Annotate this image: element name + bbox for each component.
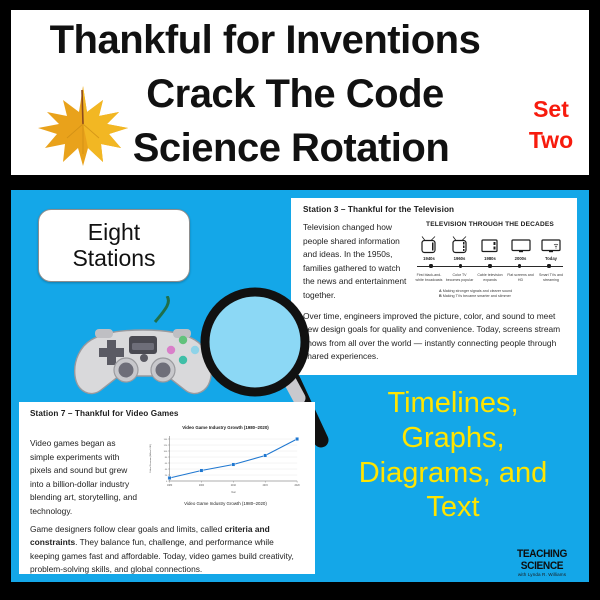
crt-tv-antenna-icon xyxy=(418,236,440,254)
station-7-card: Station 7 – Thankful for Video Games Vid… xyxy=(19,402,315,574)
station-7-text-part-1: Game designers follow clear goals and li… xyxy=(30,524,225,534)
timeline-note-1: B Making TVs became smarter and slimmer xyxy=(439,294,567,300)
timeline-note-label-1: B xyxy=(439,294,442,298)
timeline-dot-1 xyxy=(459,264,462,267)
svg-text:1980: 1980 xyxy=(167,484,173,487)
crt-tv-antenna-icon xyxy=(449,236,471,254)
chart-title: Video Game Industry Growth (1980–2020) xyxy=(146,425,305,430)
brand-logo: TEACHING SCIENCE with Lynda R. Williams xyxy=(499,548,585,577)
yellow-callout: Timelines, Graphs, Diagrams, and Text xyxy=(317,386,589,525)
timeline-note-text-0: Making stronger signals and clearer soun… xyxy=(443,289,513,293)
station-3-paragraph-left: Television changed how people shared inf… xyxy=(303,221,407,303)
game-controller-icon xyxy=(63,296,223,416)
svg-text:Global Revenue (Billion USD): Global Revenue (Billion USD) xyxy=(150,444,152,473)
timeline-dot-3 xyxy=(518,264,521,267)
timeline-caption-1: Color TV becomes popular xyxy=(446,273,474,284)
timeline-dot-0 xyxy=(429,264,432,267)
timeline-caption-2: Cable television expands xyxy=(476,273,504,284)
title-line-3: Science Rotation xyxy=(11,128,519,168)
eight-stations-badge: Eight Stations xyxy=(38,209,190,282)
tv-item-0: 1940s xyxy=(415,236,443,261)
poster-canvas: Thankful for Inventions Crack The Code S… xyxy=(0,0,600,600)
title-line-2: Crack The Code xyxy=(11,74,519,114)
tv-era-4: Today xyxy=(545,256,557,261)
timeline-note-label-0: A xyxy=(439,289,442,293)
svg-text:2000: 2000 xyxy=(199,484,205,487)
svg-text:Year: Year xyxy=(231,491,236,494)
callout-line-1: Timelines, xyxy=(317,386,589,421)
set-badge: Set Two xyxy=(511,94,591,156)
station-3-card: Station 3 – Thankful for the Television … xyxy=(291,198,577,375)
title-banner: Thankful for Inventions Crack The Code S… xyxy=(11,10,589,175)
tv-era-3: 2000s xyxy=(515,256,527,261)
logo-main-text: TEACHING SCIENCE xyxy=(502,548,581,572)
callout-line-4: Text xyxy=(317,490,589,525)
svg-text:60: 60 xyxy=(165,463,168,465)
svg-text:140: 140 xyxy=(164,439,168,441)
tv-timeline-diagram: TELEVISION THROUGH THE DECADES 1940s xyxy=(413,221,567,303)
poster-title: Thankful for Inventions Crack The Code S… xyxy=(11,16,519,168)
timeline-caption-4: Smart TVs and streaming xyxy=(537,273,565,284)
tv-era-1: 1960s xyxy=(454,256,466,261)
timeline-note-text-1: Making TVs became smarter and slimmer xyxy=(443,294,511,298)
svg-text:120: 120 xyxy=(164,445,168,447)
tv-icon-row: 1940s 1960 xyxy=(413,236,567,261)
timeline-caption-3: Flat screens and HD xyxy=(507,273,535,284)
station-7-paragraph-left: Video games began as simple experiments … xyxy=(30,425,142,519)
tv-item-3: 2000s xyxy=(507,236,535,261)
video-game-growth-chart: Video Game Industry Growth (1980–2020) 0… xyxy=(146,425,305,519)
chart-caption: Video Game Industry Growth (1980–2020) xyxy=(146,501,305,506)
timeline-dot-4 xyxy=(547,264,550,267)
svg-text:100: 100 xyxy=(164,451,168,453)
station-7-heading: Station 7 – Thankful for Video Games xyxy=(30,409,305,418)
smart-tv-wifi-icon xyxy=(540,236,562,254)
tv-item-1: 1960s xyxy=(446,236,474,261)
timeline-caption-0: First black-and-white broadcasts xyxy=(415,273,443,284)
svg-text:2010: 2010 xyxy=(231,484,237,487)
eight-stations-line-1: Eight xyxy=(88,219,140,245)
boxy-tv-icon xyxy=(479,236,501,254)
svg-text:20: 20 xyxy=(165,475,168,477)
tv-item-2: 1980s xyxy=(476,236,504,261)
set-badge-line-2: Two xyxy=(511,125,591,156)
svg-text:40: 40 xyxy=(165,469,168,471)
svg-text:2020: 2020 xyxy=(295,484,301,487)
svg-text:0: 0 xyxy=(166,481,168,483)
blue-panel: Eight Stations Station 3 – Thankful for … xyxy=(11,190,589,582)
station-7-paragraph-bottom: Game designers follow clear goals and li… xyxy=(30,523,305,577)
callout-line-2: Graphs, xyxy=(317,421,589,456)
tv-era-0: 1940s xyxy=(423,256,435,261)
callout-line-3: Diagrams, and xyxy=(317,456,589,491)
timeline-dot-2 xyxy=(488,264,491,267)
tv-timeline-title: TELEVISION THROUGH THE DECADES xyxy=(413,221,567,230)
timeline-axis xyxy=(415,262,565,271)
station-3-heading: Station 3 – Thankful for the Television xyxy=(303,205,567,214)
station-3-paragraph-bottom: Over time, engineers improved the pictur… xyxy=(303,310,567,364)
flat-screen-tv-icon xyxy=(510,236,532,254)
set-badge-line-1: Set xyxy=(511,94,591,125)
logo-sub-text: with Lynda R. Williams xyxy=(499,572,585,577)
timeline-caption-row: First black-and-white broadcasts Color T… xyxy=(413,273,567,284)
svg-text:80: 80 xyxy=(165,457,168,459)
title-line-1: Thankful for Inventions xyxy=(11,20,519,60)
svg-text:2015: 2015 xyxy=(263,484,269,487)
tv-era-2: 1980s xyxy=(484,256,496,261)
chart-plot-area: 02040608010012014019802000201020152020Ye… xyxy=(146,432,303,494)
timeline-notes: A Making stronger signals and clearer so… xyxy=(413,289,567,300)
eight-stations-line-2: Stations xyxy=(72,245,155,271)
tv-item-4: Today xyxy=(537,236,565,261)
